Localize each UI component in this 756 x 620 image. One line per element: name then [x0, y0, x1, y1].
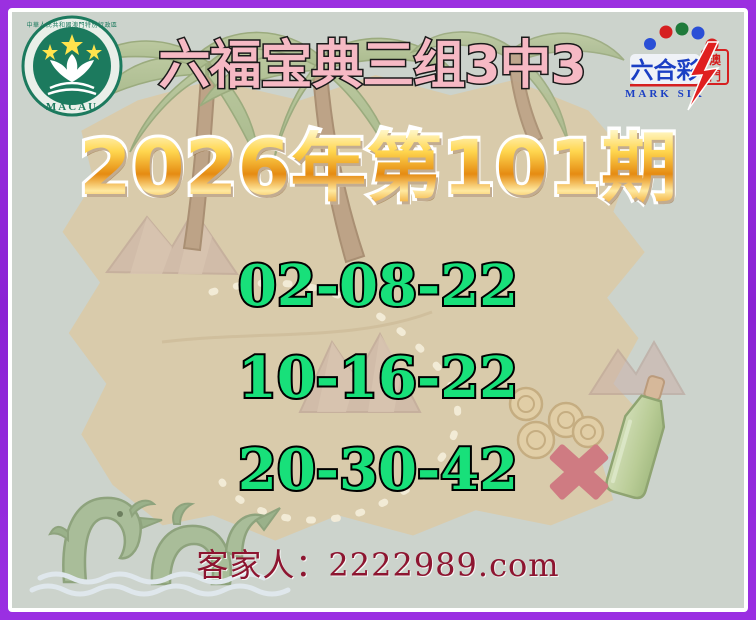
number-row-2: 10-16-22 [12, 350, 744, 406]
number-row-1: 02-08-22 [12, 258, 744, 314]
draw-numbers: 02-08-22 10-16-22 20-30-42 [12, 258, 744, 534]
poster-header: MACAU 中華人民共和國澳門特別行政區 六福宝典三组3中3 [12, 12, 744, 120]
mark-six-chinese: 六合彩 [631, 57, 700, 84]
site-footer: 客家人：2222989.com [12, 540, 744, 586]
emblem-bottom-text: MACAU [46, 101, 98, 113]
emblem-ring-text: 中華人民共和國澳門特別行政區 [26, 21, 117, 29]
mark-six-logo: 六合彩 MARK SIX 澳 門 [622, 18, 734, 114]
issue-title: 2026年第101期 [12, 130, 744, 206]
lottery-poster: MACAU 中華人民共和國澳門特別行政區 六福宝典三组3中3 [0, 0, 756, 620]
page-title: 六福宝典三组3中3 [118, 40, 626, 92]
number-row-3: 20-30-42 [12, 442, 744, 498]
poster-stage: MACAU 中華人民共和國澳門特別行政區 六福宝典三组3中3 [12, 12, 744, 608]
macau-emblem: MACAU 中華人民共和國澳門特別行政區 [20, 14, 124, 118]
